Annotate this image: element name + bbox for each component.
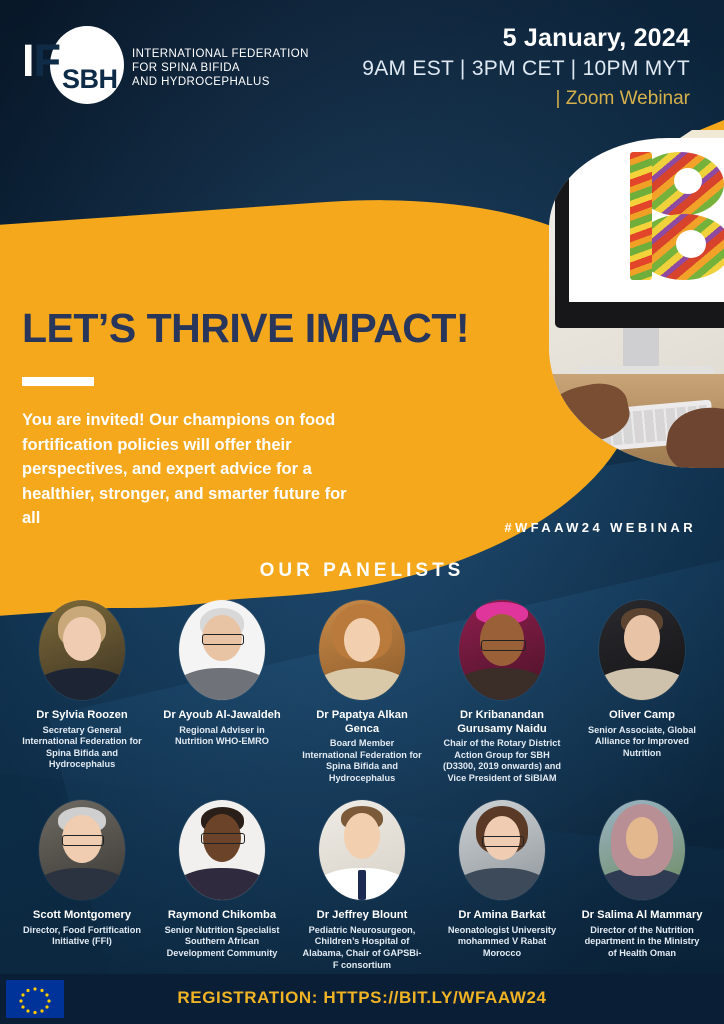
hero-text-block: LET’S THRIVE IMPACT! You are invited! Ou…	[22, 305, 522, 531]
panelist-name: Raymond Chikomba	[158, 909, 286, 923]
panelist-card: Dr Jeffrey Blount Pediatric Neurosurgeon…	[298, 800, 426, 971]
panelist-card: Dr Salima Al Mammary Director of the Nut…	[578, 800, 706, 971]
veg-b-hole-lower	[676, 230, 706, 258]
avatar-body	[319, 668, 405, 700]
panelists-section-title: OUR PANELISTS	[0, 560, 724, 582]
avatar	[39, 800, 125, 900]
panelist-role: Regional Adviser in Nutrition WHO-EMRO	[158, 725, 286, 748]
avatar-body	[39, 668, 125, 700]
event-timezones: 9AM EST | 3PM CET | 10PM MYT	[362, 57, 690, 81]
panelist-card: Scott Montgomery Director, Food Fortific…	[18, 800, 146, 971]
page-title: LET’S THRIVE IMPACT!	[22, 305, 522, 351]
panelist-name: Dr Jeffrey Blount	[298, 909, 426, 923]
logo-if-letters: IF	[22, 38, 60, 83]
avatar	[179, 800, 265, 900]
avatar-glasses-icon	[202, 634, 244, 645]
logo-wordmark: INTERNATIONAL FEDERATION FOR SPINA BIFID…	[132, 41, 309, 89]
panelist-card: Dr Papatya Alkan Genca Board Member Inte…	[298, 600, 426, 784]
panelist-row-1: Dr Sylvia Roozen Secretary General Inter…	[0, 600, 724, 784]
veg-b-stem	[630, 152, 652, 280]
panelist-card: Dr Amina Barkat Neonatologist University…	[438, 800, 566, 971]
panelist-card: Dr Kribanandan Gurusamy Naidu Chair of t…	[438, 600, 566, 784]
avatar-head	[344, 618, 380, 662]
panelist-role: Secretary General International Federati…	[18, 725, 146, 771]
panelist-name: Dr Papatya Alkan Genca	[298, 709, 426, 736]
avatar	[179, 600, 265, 700]
avatar-necktie	[358, 870, 367, 900]
panelists-grid: Dr Sylvia Roozen Secretary General Inter…	[0, 600, 724, 987]
monitor-frame	[555, 138, 724, 328]
panelist-name: Oliver Camp	[578, 709, 706, 723]
avatar	[459, 600, 545, 700]
avatar-head	[624, 615, 660, 661]
avatar-glasses-icon	[62, 835, 104, 846]
panelist-role: Director, Food Fortification Initiative …	[18, 925, 146, 948]
panelist-role: Director of the Nutrition department in …	[578, 925, 706, 960]
hero-monitor-photo	[549, 138, 724, 468]
poster-footer: REGISTRATION: HTTPS://BIT.LY/WFAAW24	[0, 974, 724, 1024]
avatar	[599, 800, 685, 900]
avatar-glasses-icon	[482, 836, 524, 847]
event-platform: | Zoom Webinar	[362, 88, 690, 110]
panelist-role: Senior Nutrition Specialist Southern Afr…	[158, 925, 286, 960]
avatar-head	[63, 617, 101, 661]
avatar-body	[179, 868, 265, 900]
panelist-role: Neonatologist University mohammed V Raba…	[438, 925, 566, 960]
panelist-name: Dr Ayoub Al-Jawaldeh	[158, 709, 286, 723]
avatar-glasses-icon	[481, 640, 526, 651]
panelist-card: Raymond Chikomba Senior Nutrition Specia…	[158, 800, 286, 971]
event-datetime-block: 5 January, 2024 9AM EST | 3PM CET | 10PM…	[362, 24, 690, 110]
panelist-name: Dr Kribanandan Gurusamy Naidu	[438, 709, 566, 736]
title-divider	[22, 377, 94, 386]
logo-mark-icon: IF SBH	[22, 26, 114, 104]
avatar-body	[459, 668, 545, 700]
panelist-role: Pediatric Neurosurgeon, Children’s Hospi…	[298, 925, 426, 971]
monitor-screen	[569, 138, 724, 302]
panelist-name: Dr Sylvia Roozen	[18, 709, 146, 723]
logo-line-1: INTERNATIONAL FEDERATION	[132, 47, 309, 61]
panelist-role: Senior Associate, Global Alliance for Im…	[578, 725, 706, 760]
panelist-name: Dr Salima Al Mammary	[578, 909, 706, 923]
event-hashtag: #WFAAW24 WEBINAR	[504, 520, 696, 535]
logo-line-2: FOR SPINA BIFIDA	[132, 61, 309, 75]
panelist-row-2: Scott Montgomery Director, Food Fortific…	[0, 800, 724, 971]
avatar-body	[459, 868, 545, 900]
avatar	[459, 800, 545, 900]
avatar	[39, 600, 125, 700]
avatar-body	[179, 668, 265, 700]
panelist-name: Dr Amina Barkat	[438, 909, 566, 923]
avatar-body	[39, 868, 125, 900]
avatar	[319, 800, 405, 900]
poster-header: IF SBH INTERNATIONAL FEDERATION FOR SPIN…	[0, 0, 724, 140]
event-date: 5 January, 2024	[362, 24, 690, 53]
panelist-role: Board Member International Federation fo…	[298, 738, 426, 784]
panelist-card: Oliver Camp Senior Associate, Global All…	[578, 600, 706, 784]
panelist-card: Dr Sylvia Roozen Secretary General Inter…	[18, 600, 146, 784]
logo-sbh-letters: SBH	[62, 66, 118, 93]
veg-b-hole-upper	[674, 168, 702, 194]
registration-link[interactable]: REGISTRATION: HTTPS://BIT.LY/WFAAW24	[0, 988, 724, 1008]
ifsbh-logo: IF SBH INTERNATIONAL FEDERATION FOR SPIN…	[22, 26, 309, 104]
hero-description: You are invited! Our champions on food f…	[22, 408, 352, 531]
avatar	[599, 600, 685, 700]
panelist-name: Scott Montgomery	[18, 909, 146, 923]
logo-line-3: AND HYDROCEPHALUS	[132, 75, 309, 89]
panelist-role: Chair of the Rotary District Action Grou…	[438, 738, 566, 784]
webinar-poster: IF SBH INTERNATIONAL FEDERATION FOR SPIN…	[0, 0, 724, 1024]
avatar	[319, 600, 405, 700]
avatar-glasses-icon	[201, 833, 244, 844]
avatar-body	[599, 668, 685, 700]
vegetable-letter-b-icon	[624, 152, 724, 280]
panelist-card: Dr Ayoub Al-Jawaldeh Regional Adviser in…	[158, 600, 286, 784]
